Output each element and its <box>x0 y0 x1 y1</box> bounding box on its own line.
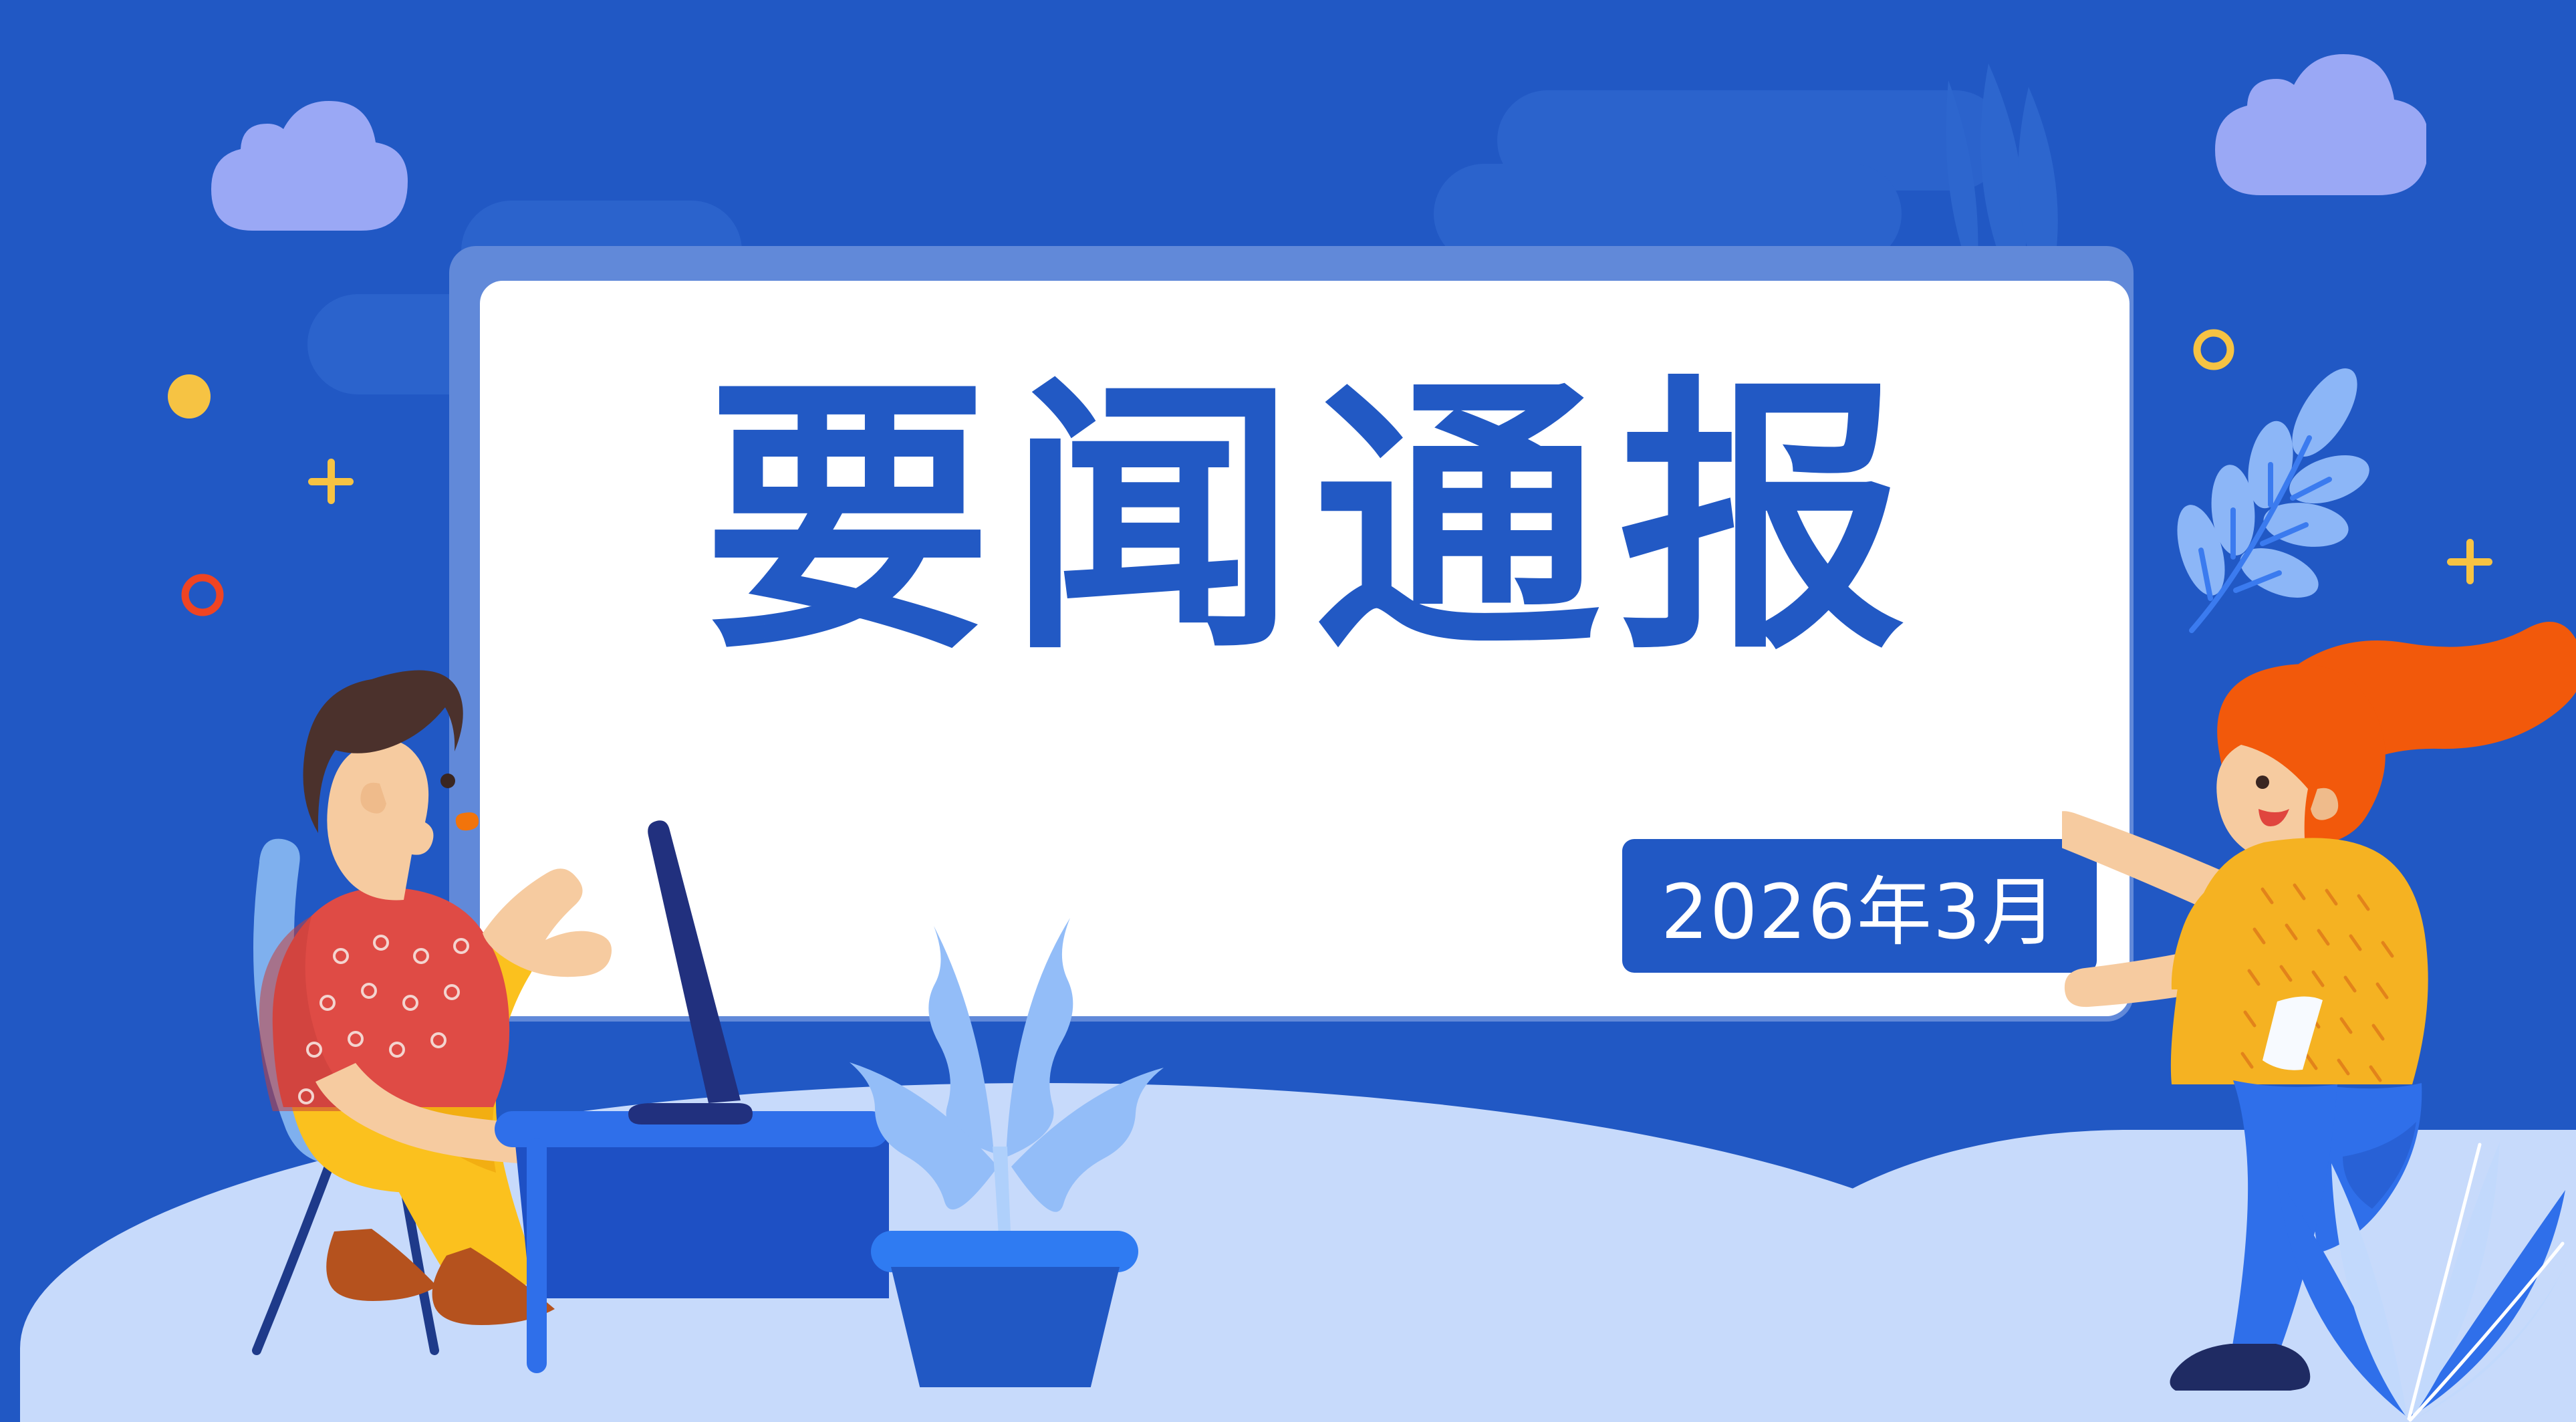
plus-yellow-right-icon <box>2443 535 2496 588</box>
news-banner: 要闻通报 2026年3月 <box>0 0 2576 1422</box>
laptop-base <box>628 1103 753 1124</box>
page-title: 要闻通报 <box>480 374 2130 668</box>
palm-leaves-bottom-right <box>2266 1023 2576 1422</box>
ring-red-left-icon <box>179 572 226 618</box>
mouth <box>456 812 479 830</box>
date-badge: 2026年3月 <box>1622 839 2097 973</box>
palm-leaf-dark <box>2277 1177 2565 1417</box>
potted-plant-center <box>839 832 1173 1387</box>
plus-yellow-left-icon <box>304 455 358 508</box>
eye <box>440 774 455 788</box>
head <box>327 741 433 901</box>
dot-yellow-left-icon <box>166 373 213 420</box>
pot-rim <box>871 1231 1138 1272</box>
person-at-desk-left <box>180 642 889 1391</box>
laptop-screen <box>648 820 741 1103</box>
cloud-top-right-icon <box>2199 47 2426 201</box>
desk-leg <box>527 1138 547 1373</box>
eye <box>2256 776 2269 789</box>
pot-body <box>891 1267 1120 1387</box>
desk-shadow <box>515 1138 889 1298</box>
cloud-top-left-icon <box>194 94 408 234</box>
